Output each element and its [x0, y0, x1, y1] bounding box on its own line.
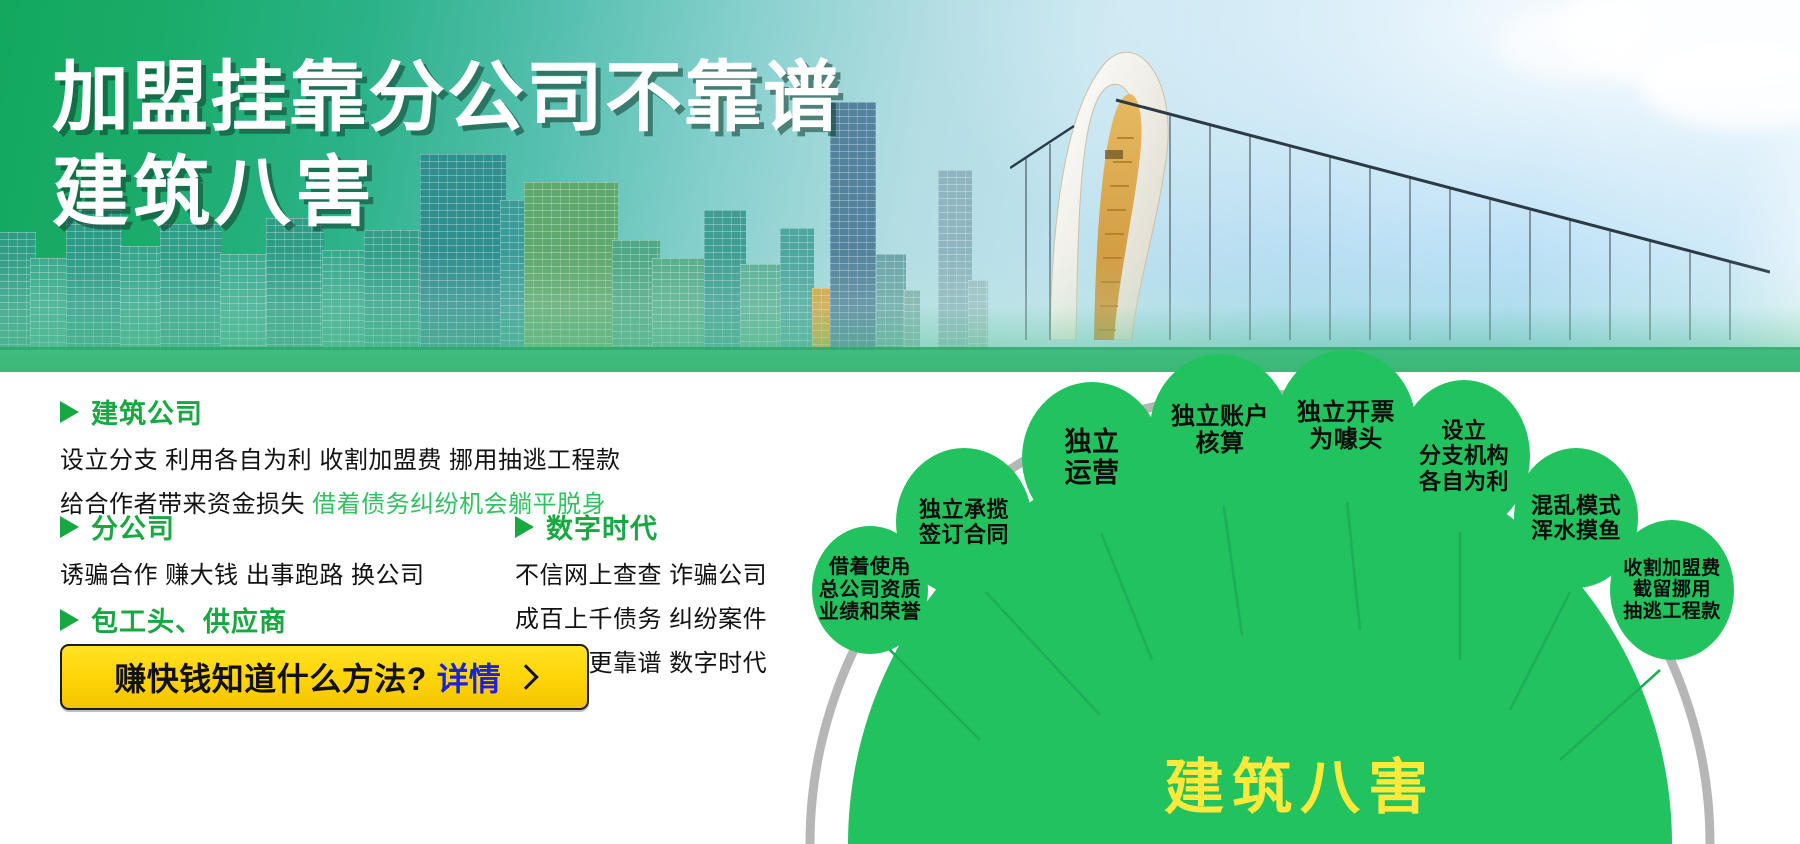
cta-main-label: 赚快钱知道什么方法?: [114, 654, 427, 700]
details-cta-button[interactable]: 赚快钱知道什么方法? 详情: [60, 644, 589, 710]
poster-root: 加盟挂靠分公司不靠谱 建筑八害 建筑公司 设立分支 利用各自为利 收割加盟费 挪…: [0, 0, 1800, 844]
cta-link-label: 详情: [437, 654, 501, 700]
eight-harms-diagram: 建筑八害 借着使用 总公司资质 业绩和荣誉 独立承揽 签订合同 独立 运营 独立…: [800, 330, 1800, 844]
bubble-line: 借着使用: [829, 556, 911, 578]
left-content-column: 建筑公司 设立分支 利用各自为利 收割加盟费 挪用抽逃工程款 给合作者带来资金损…: [0, 372, 810, 844]
bubble-line: 独立开票: [1297, 399, 1395, 426]
section-line: 不信网上查查 诈骗公司: [515, 555, 767, 590]
bubble-b6[interactable]: 设立 分支机构 各自为利: [1398, 380, 1530, 532]
bubble-line: 设立: [1441, 418, 1486, 443]
bubble-line: 各自为利: [1419, 469, 1509, 494]
headline-line-1: 加盟挂靠分公司不靠谱: [52, 58, 842, 140]
bubble-line: 核算: [1196, 430, 1245, 457]
section-header: 数字时代: [515, 507, 767, 546]
bubble-line: 收割加盟费: [1623, 558, 1721, 579]
bubble-line: 独立账户: [1171, 403, 1269, 430]
bubble-line: 签订合同: [919, 522, 1009, 547]
section-title: 数字时代: [546, 507, 658, 546]
bubble-line: 分支机构: [1419, 443, 1509, 468]
section-construction-company: 建筑公司 设立分支 利用各自为利 收割加盟费 挪用抽逃工程款 给合作者带来资金损…: [60, 392, 621, 519]
bubble-b8[interactable]: 收割加盟费 截留挪用 抽逃工程款: [1610, 520, 1734, 660]
triangle-bullet-icon: [60, 401, 79, 423]
headline-line-2: 建筑八害: [52, 150, 842, 236]
bubble-line: 混乱模式: [1531, 493, 1621, 518]
bubble-line: 独立: [1065, 427, 1120, 457]
section-line: 成百上千债务 纠纷案件: [515, 599, 767, 634]
triangle-bullet-icon: [60, 516, 79, 538]
section-title: 分公司: [91, 507, 175, 546]
section-header: 分公司: [60, 507, 425, 546]
center-label: 建筑八害: [1164, 739, 1436, 826]
chevron-right-icon: [513, 664, 538, 689]
bubble-line: 运营: [1065, 458, 1120, 488]
bubble-line: 业绩和荣誉: [819, 601, 922, 623]
hero-headline: 加盟挂靠分公司不靠谱 建筑八害: [52, 58, 842, 236]
section-header: 建筑公司: [60, 392, 621, 431]
section-branch-company: 分公司 诱骗合作 赚大钱 出事跑路 换公司: [60, 507, 425, 590]
section-header: 包工头、供应商: [60, 600, 442, 639]
section-title: 建筑公司: [91, 392, 203, 431]
bubble-line: 抽逃工程款: [1623, 601, 1721, 622]
bubble-line: 截留挪用: [1633, 579, 1711, 600]
bubble-line: 独立承揽: [919, 497, 1009, 522]
section-title: 包工头、供应商: [91, 600, 287, 639]
bubble-line: 为噱头: [1309, 426, 1383, 453]
bubble-line: 浑水摸鱼: [1531, 518, 1621, 543]
bubble-b4[interactable]: 独立账户 核算: [1150, 354, 1290, 506]
triangle-bullet-icon: [60, 609, 79, 631]
bubble-line: 总公司资质: [819, 579, 922, 601]
triangle-bullet-icon: [515, 516, 534, 538]
bubble-b5[interactable]: 独立开票 为噱头: [1276, 350, 1416, 502]
section-line: 设立分支 利用各自为利 收割加盟费 挪用抽逃工程款: [60, 440, 621, 475]
bubble-b2[interactable]: 独立承揽 签订合同: [896, 448, 1032, 596]
bubble-b3[interactable]: 独立 运营: [1022, 382, 1162, 534]
hero-banner: 加盟挂靠分公司不靠谱 建筑八害: [0, 0, 1800, 372]
section-line: 诱骗合作 赚大钱 出事跑路 换公司: [60, 555, 425, 590]
